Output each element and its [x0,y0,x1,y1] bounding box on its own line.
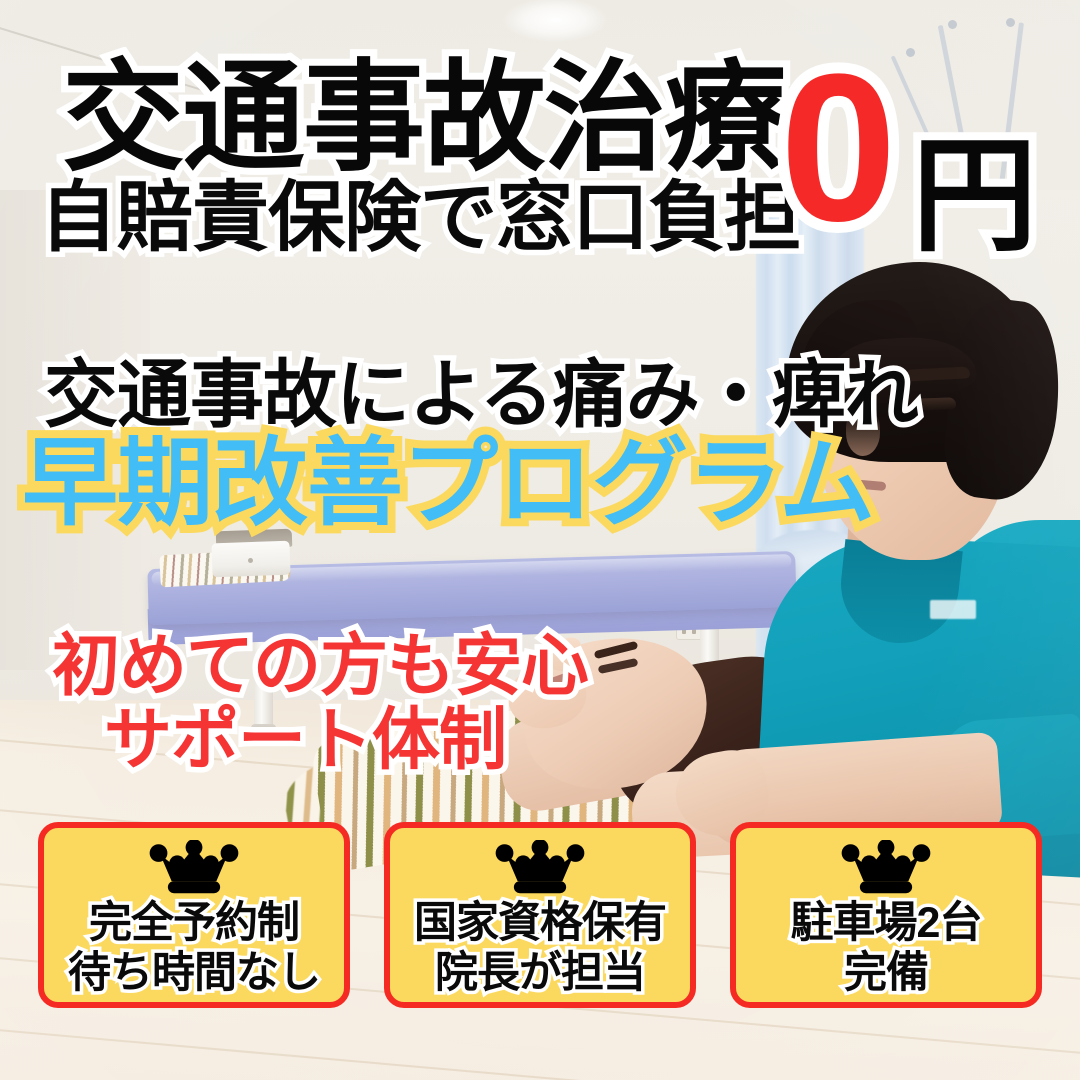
badge-line-1: 駐車場2台 [791,898,982,948]
headline: 交通事故治療 [62,58,784,178]
support-line1: 初めての方も安心 [52,632,588,700]
badge-text: 国家資格保有 院長が担当 [414,898,666,998]
price-unit: 円 [912,134,1037,259]
crown-icon [147,840,241,896]
badge-line-2: 待ち時間なし [68,948,320,998]
feature-badge[interactable]: 完全予約制 待ち時間なし [38,822,350,1008]
badge-line-2: 院長が担当 [435,948,645,998]
mid-headline-line1: 交通事故による痛み・痺れ [44,358,918,432]
badge-line-2: 完備 [844,948,928,998]
crown-icon [839,840,933,896]
badge-text: 駐車場2台 完備 [791,898,982,998]
badge-line-1: 完全予約制 [89,898,299,948]
feature-badge-row: 完全予約制 待ち時間なし 国家資格保有 院長が担当 [38,822,1042,1010]
badge-text: 完全予約制 待ち時間なし [68,898,320,998]
crown-icon [493,840,587,896]
price-number: 0 [780,48,897,248]
subheadline: 自賠責保険で窓口負担 [40,180,800,257]
feature-badge[interactable]: 国家資格保有 院長が担当 [384,822,696,1008]
support-line2: サポート体制 [104,706,506,774]
poster-canvas: 交通事故治療 自賠責保険で窓口負担 0 円 交通事故による痛み・痺れ 早期改善プ… [0,0,1080,1080]
badge-line-1: 国家資格保有 [414,898,666,948]
mid-headline-line2: 早期改善プログラム [22,436,874,532]
feature-badge[interactable]: 駐車場2台 完備 [730,822,1042,1008]
